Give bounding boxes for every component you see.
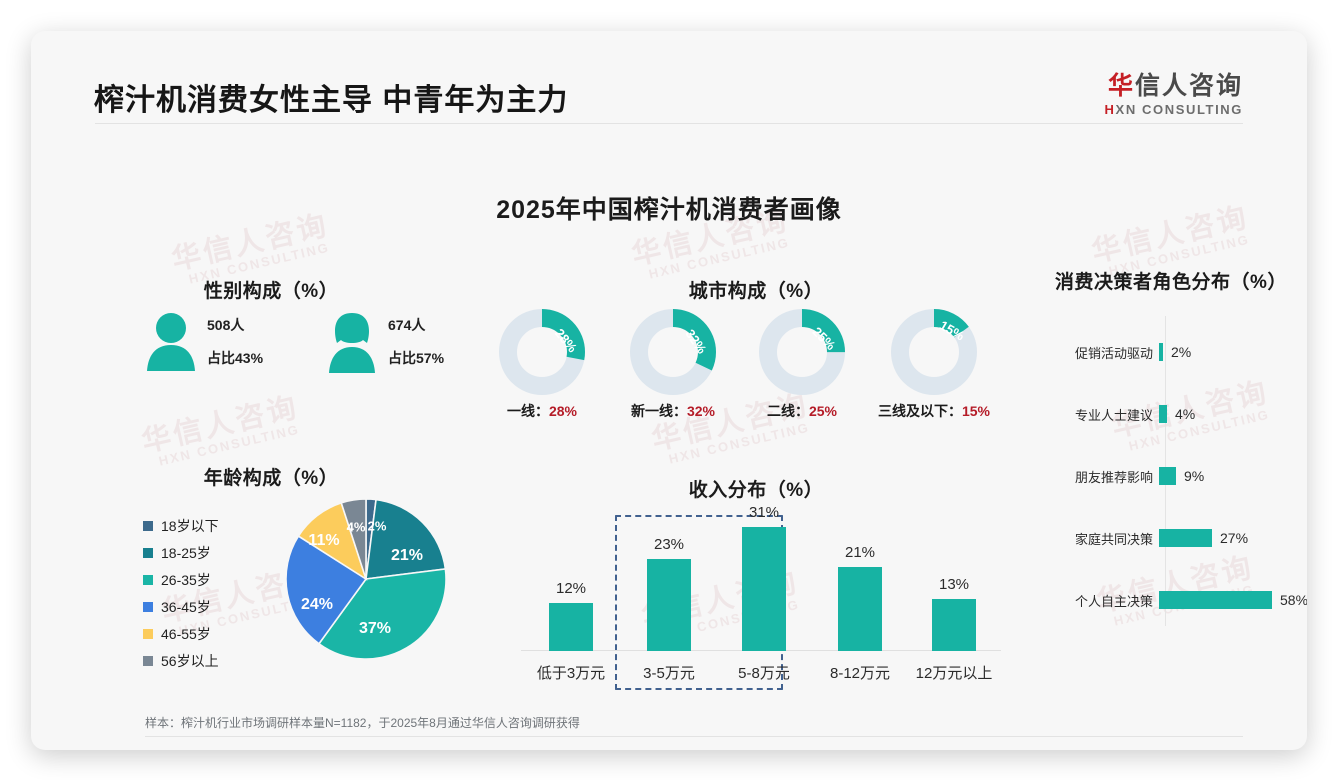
legend-label: 36-45岁 bbox=[161, 597, 211, 617]
donut-ring: 28% bbox=[497, 307, 587, 397]
city-label: 三线及以下： bbox=[878, 403, 962, 419]
city-section-title: 城市构成（%） bbox=[486, 276, 1026, 303]
income-bar bbox=[932, 599, 976, 651]
income-value-label: 13% bbox=[906, 576, 1002, 593]
city-caption-tier3: 三线及以下：15% bbox=[878, 401, 990, 421]
income-column: 12% bbox=[523, 580, 619, 651]
gender-female-share: 占比57% bbox=[388, 348, 444, 368]
income-value-label: 12% bbox=[523, 580, 619, 597]
watermark: 华信人咨询 HXN CONSULTING bbox=[137, 384, 305, 472]
city-caption-tier2: 二线：25% bbox=[767, 401, 837, 421]
legend-label: 18-25岁 bbox=[161, 543, 211, 563]
income-column: 31% bbox=[716, 504, 812, 651]
age-legend: 18岁以下 18-25岁 26-35岁 36-45岁 46-55岁 56岁以上 bbox=[143, 512, 219, 674]
sample-note: 样本：榨汁机行业市场调研样本量N=1182，于2025年8月通过华信人咨询调研获… bbox=[145, 714, 580, 731]
gender-male-count: 508人 bbox=[207, 315, 244, 335]
legend-label: 18岁以下 bbox=[161, 516, 219, 536]
donut-ring: 25% bbox=[757, 307, 847, 397]
decision-row: 专业人士建议 4% bbox=[1041, 403, 1307, 425]
legend-swatch-icon bbox=[143, 548, 153, 558]
decision-bar bbox=[1159, 591, 1272, 609]
city-value: 25% bbox=[809, 403, 837, 419]
gender-item-female: 674人 占比57% bbox=[326, 311, 378, 373]
city-label: 二线： bbox=[767, 403, 809, 419]
decision-category: 促销活动驱动 bbox=[1041, 343, 1159, 362]
decision-value: 27% bbox=[1220, 530, 1248, 546]
city-caption-tier1: 一线：28% bbox=[507, 401, 577, 421]
decision-bar-chart: 促销活动驱动 2% 专业人士建议 4% 朋友推荐影响 9% 家庭共同决策 27%… bbox=[1041, 316, 1307, 636]
age-section-title: 年龄构成（%） bbox=[101, 463, 441, 490]
decision-bar bbox=[1159, 529, 1212, 547]
income-category-label: 12万元以上 bbox=[904, 662, 1004, 683]
legend-item: 26-35岁 bbox=[143, 566, 219, 593]
decision-category: 家庭共同决策 bbox=[1041, 529, 1159, 548]
decision-category: 朋友推荐影响 bbox=[1041, 467, 1159, 486]
legend-item: 36-45岁 bbox=[143, 593, 219, 620]
decision-row: 促销活动驱动 2% bbox=[1041, 341, 1307, 363]
legend-swatch-icon bbox=[143, 521, 153, 531]
legend-item: 18岁以下 bbox=[143, 512, 219, 539]
decision-row: 个人自主决策 58% bbox=[1041, 589, 1307, 611]
gender-male-share: 占比43% bbox=[207, 348, 263, 368]
city-value: 28% bbox=[549, 403, 577, 419]
city-label: 新一线： bbox=[631, 403, 687, 419]
city-value: 15% bbox=[962, 403, 990, 419]
male-person-icon bbox=[145, 311, 197, 371]
gender-section-title: 性别构成（%） bbox=[101, 276, 441, 303]
legend-item: 46-55岁 bbox=[143, 620, 219, 647]
legend-label: 46-55岁 bbox=[161, 624, 211, 644]
income-column: 13% bbox=[906, 576, 1002, 651]
income-category-label: 8-12万元 bbox=[810, 662, 910, 683]
city-donut-tier2: 25% 二线：25% bbox=[757, 307, 847, 397]
copyright-text: ©2025.10 HXR华信人咨询 bbox=[99, 749, 240, 750]
gender-female-count: 674人 bbox=[388, 315, 425, 335]
legend-label: 26-35岁 bbox=[161, 570, 211, 590]
footer-divider bbox=[145, 736, 1243, 737]
income-value-label: 21% bbox=[812, 544, 908, 561]
decision-bar bbox=[1159, 343, 1163, 361]
income-category-label: 低于3万元 bbox=[521, 662, 621, 683]
decision-row: 朋友推荐影响 9% bbox=[1041, 465, 1307, 487]
income-value-label: 31% bbox=[716, 504, 812, 521]
decision-category: 个人自主决策 bbox=[1041, 591, 1159, 610]
city-value: 32% bbox=[687, 403, 715, 419]
decision-value: 9% bbox=[1184, 468, 1204, 484]
legend-swatch-icon bbox=[143, 575, 153, 585]
watermark-en: HXN CONSULTING bbox=[157, 421, 305, 469]
legend-item: 56岁以上 bbox=[143, 647, 219, 674]
city-donut-tier1: 28% 一线：28% bbox=[497, 307, 587, 397]
city-label: 一线： bbox=[507, 403, 549, 419]
legend-label: 56岁以上 bbox=[161, 651, 219, 671]
decision-row: 家庭共同决策 27% bbox=[1041, 527, 1307, 549]
city-donut-newtier1: 32% 新一线：32% bbox=[628, 307, 718, 397]
watermark-en: HXN CONSULTING bbox=[647, 234, 795, 282]
income-section-title: 收入分布（%） bbox=[486, 475, 1026, 502]
decision-bar bbox=[1159, 467, 1176, 485]
city-caption-newtier1: 新一线：32% bbox=[631, 401, 715, 421]
income-bar bbox=[549, 603, 593, 651]
legend-swatch-icon bbox=[143, 656, 153, 666]
legend-item: 18-25岁 bbox=[143, 539, 219, 566]
female-person-icon bbox=[326, 311, 378, 373]
decision-value: 2% bbox=[1171, 344, 1191, 360]
legend-swatch-icon bbox=[143, 602, 153, 612]
income-bar bbox=[647, 559, 691, 651]
decision-section-title: 消费决策者角色分布（%） bbox=[1026, 267, 1307, 294]
chart-main-title: 2025年中国榨汁机消费者画像 bbox=[31, 190, 1307, 226]
pie-label-over56: 4% bbox=[347, 520, 366, 535]
pie-label-36-45: 24% bbox=[301, 596, 333, 614]
gender-item-male: 508人 占比43% bbox=[145, 311, 197, 371]
pie-label-18-25: 21% bbox=[391, 547, 423, 565]
legend-swatch-icon bbox=[143, 629, 153, 639]
income-category-label: 3-5万元 bbox=[619, 662, 719, 683]
header bbox=[31, 31, 1307, 123]
income-bar bbox=[838, 567, 882, 651]
decision-bar bbox=[1159, 405, 1167, 423]
income-column: 21% bbox=[812, 544, 908, 651]
pie-label-under18: 2% bbox=[368, 519, 387, 534]
pie-label-46-55: 11% bbox=[308, 532, 339, 550]
infographic-card: 华信人咨询 HXN CONSULTING 华信人咨询 HXN CONSULTIN… bbox=[31, 31, 1307, 750]
donut-ring: 32% bbox=[628, 307, 718, 397]
age-pie-chart: 2% 21% 37% 24% 11% 4% bbox=[284, 497, 448, 661]
watermark-en: HXN CONSULTING bbox=[667, 419, 815, 467]
city-donut-tier3: 15% 三线及以下：15% bbox=[889, 307, 979, 397]
donut-ring: 15% bbox=[889, 307, 979, 397]
income-bar bbox=[742, 527, 786, 651]
income-column: 23% bbox=[621, 536, 717, 651]
decision-category: 专业人士建议 bbox=[1041, 405, 1159, 424]
website-url: www.hxrcon.com bbox=[1148, 749, 1239, 750]
watermark-cn: 华信人咨询 bbox=[137, 384, 302, 461]
income-bar-chart: 12% 低于3万元 23% 3-5万元 31% 5-8万元 21% 8-12万元… bbox=[501, 511, 1021, 691]
header-divider bbox=[95, 123, 1243, 124]
income-category-label: 5-8万元 bbox=[714, 662, 814, 683]
decision-value: 4% bbox=[1175, 406, 1195, 422]
income-value-label: 23% bbox=[621, 536, 717, 553]
pie-label-26-35: 37% bbox=[359, 620, 391, 638]
decision-value: 58% bbox=[1280, 592, 1307, 608]
